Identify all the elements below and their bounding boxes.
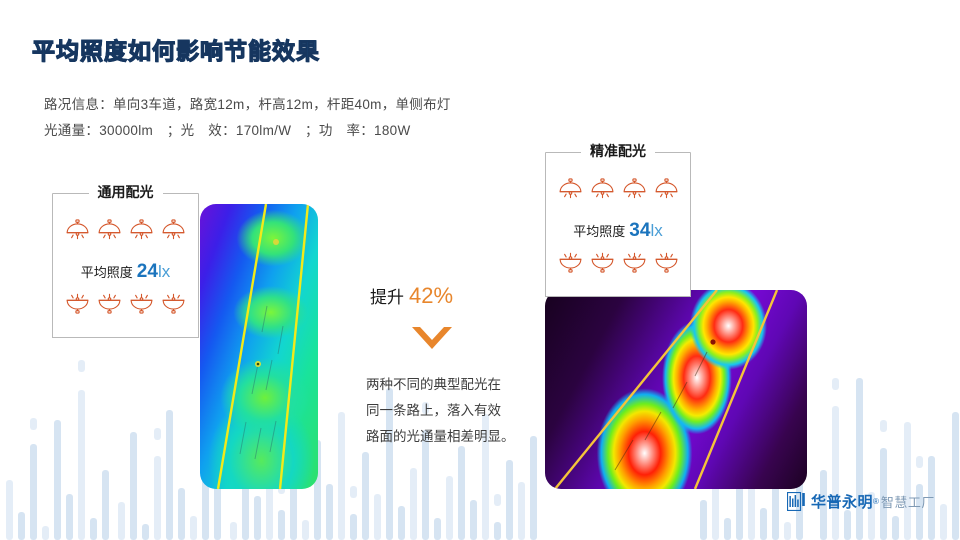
decorative-bar — [832, 406, 839, 540]
lamp-icon — [557, 252, 584, 273]
lamp-icon — [128, 293, 155, 314]
decorative-bar-dot — [832, 378, 839, 390]
decorative-bar — [54, 420, 61, 540]
lamp-row-top-left — [52, 219, 199, 240]
decorative-bar — [254, 496, 261, 540]
uplift-label: 提升 — [370, 288, 404, 307]
decorative-bar — [446, 476, 453, 540]
decorative-bar — [338, 412, 345, 540]
trademark-mark: ® — [873, 497, 879, 506]
decorative-bar — [350, 514, 357, 540]
decorative-bar — [90, 518, 97, 540]
avg-value: 34 — [629, 220, 650, 241]
decorative-bar — [724, 518, 731, 540]
lamp-icon — [96, 293, 123, 314]
lamp-row-top-right — [545, 178, 691, 199]
decorative-bar-dot — [916, 456, 923, 468]
lamp-icon — [621, 178, 648, 199]
avg-unit: lx — [650, 221, 662, 240]
decorative-bar — [118, 502, 125, 540]
lamp-icon — [64, 219, 91, 240]
decorative-bar — [6, 480, 13, 540]
brand-logo: 华普永明 ® 智慧工厂 — [787, 491, 935, 512]
decorative-bar — [458, 446, 465, 540]
lamp-icon — [64, 293, 91, 314]
spec-card-precise: 精准配光 平均照度34lx — [545, 152, 691, 297]
decorative-bar — [784, 522, 791, 540]
road-lines-right — [545, 290, 807, 489]
decorative-bar — [302, 520, 309, 540]
lamp-icon — [160, 219, 187, 240]
explanation-note: 两种不同的典型配光在 同一条路上，落入有效 路面的光通量相差明显。 — [366, 372, 515, 450]
note-line-2: 同一条路上，落入有效 — [366, 398, 515, 424]
illuminance-heatmap-precise — [545, 290, 807, 489]
slide-canvas: 平均照度如何影响节能效果 路况信息：单向3车道，路宽12m，杆高12m，杆距40… — [0, 0, 960, 540]
decorative-bar — [410, 468, 417, 540]
decorative-bar — [434, 518, 441, 540]
decorative-bar — [374, 494, 381, 540]
illuminance-heatmap-generic — [200, 204, 318, 489]
decorative-bar — [42, 526, 49, 540]
decorative-bar — [736, 480, 743, 540]
avg-label: 平均照度 — [81, 265, 133, 280]
lamp-icon — [621, 252, 648, 273]
lamp-row-bottom-right — [545, 252, 691, 273]
lamp-row-bottom-left — [52, 293, 199, 314]
road-spec-line-2: 光通量：30000lm ；光 效：170lm/W ；功 率：180W — [44, 118, 451, 144]
page-title: 平均照度如何影响节能效果 — [32, 32, 320, 66]
chevron-down-icon — [410, 325, 454, 358]
decorative-bar — [230, 522, 237, 540]
decorative-bar-dot — [494, 494, 501, 506]
decorative-bar-dot — [880, 420, 887, 432]
decorative-bar — [190, 516, 197, 540]
road-lines-left — [200, 204, 318, 489]
decorative-bar — [326, 484, 333, 540]
avg-unit: lx — [158, 262, 170, 281]
lamp-icon — [653, 178, 680, 199]
lamp-icon — [589, 252, 616, 273]
lamp-icon — [557, 178, 584, 199]
decorative-bar — [506, 460, 513, 540]
decorative-bar — [398, 506, 405, 540]
spec-card-generic: 通用配光 平均照度24lx — [52, 193, 199, 338]
decorative-bar — [178, 488, 185, 540]
decorative-bar — [856, 378, 863, 540]
avg-illuminance-left: 平均照度24lx — [52, 261, 199, 283]
road-spec-text: 路况信息：单向3车道，路宽12m，杆高12m，杆距40m，单侧布灯 光通量：30… — [44, 92, 451, 144]
decorative-bar — [66, 494, 73, 540]
decorative-bar — [78, 390, 85, 540]
decorative-bar — [130, 432, 137, 540]
brand-tagline: 智慧工厂 — [881, 492, 935, 511]
decorative-bar — [940, 504, 947, 540]
card-title-left: 通用配光 — [89, 182, 163, 202]
decorative-bar — [530, 436, 537, 540]
decorative-bar — [18, 512, 25, 540]
huapu-logo-icon — [787, 492, 806, 511]
decorative-bar — [278, 510, 285, 540]
lamp-icon — [96, 219, 123, 240]
decorative-bar — [904, 422, 911, 540]
decorative-bar — [154, 456, 161, 540]
decorative-bar — [166, 410, 173, 540]
avg-value: 24 — [137, 261, 158, 282]
lamp-icon — [160, 293, 187, 314]
brand-name: 华普永明 — [811, 491, 873, 512]
uplift-value: 42% — [409, 283, 453, 308]
card-title-right: 精准配光 — [581, 141, 655, 161]
decorative-bar — [30, 444, 37, 540]
avg-label: 平均照度 — [573, 224, 625, 239]
lamp-icon — [128, 219, 155, 240]
decorative-bar — [700, 500, 707, 540]
lamp-icon — [653, 252, 680, 273]
decorative-bar-dot — [154, 428, 161, 440]
decorative-bar — [102, 470, 109, 540]
decorative-bar — [952, 412, 959, 540]
note-line-3: 路面的光通量相差明显。 — [366, 424, 515, 450]
decorative-bar-dot — [30, 418, 37, 430]
decorative-bar-dot — [350, 486, 357, 498]
road-spec-line-1: 路况信息：单向3车道，路宽12m，杆高12m，杆距40m，单侧布灯 — [44, 92, 451, 118]
decorative-bar — [362, 452, 369, 540]
avg-illuminance-right: 平均照度34lx — [545, 220, 691, 242]
lamp-icon — [589, 178, 616, 199]
decorative-bar — [844, 510, 851, 540]
note-line-1: 两种不同的典型配光在 — [366, 372, 515, 398]
decorative-bar — [494, 522, 501, 540]
decorative-bar — [760, 508, 767, 540]
uplift-indicator: 提升42% — [370, 283, 453, 309]
decorative-bar — [518, 482, 525, 540]
decorative-bar — [470, 500, 477, 540]
decorative-bar — [892, 516, 899, 540]
decorative-bar-dot — [78, 360, 85, 372]
decorative-bar — [142, 524, 149, 540]
